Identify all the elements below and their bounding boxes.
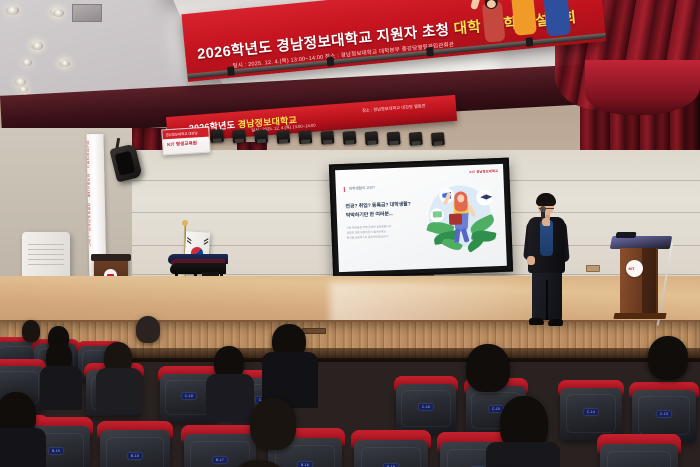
banner-clip bbox=[426, 47, 434, 57]
podium-tray bbox=[615, 232, 636, 238]
seat-label: B-17 bbox=[213, 457, 227, 463]
seat-label: B-16 bbox=[298, 462, 312, 467]
ac-grill-line bbox=[28, 254, 64, 255]
audience-torso bbox=[96, 368, 142, 414]
audience-torso bbox=[0, 428, 46, 467]
stage-light-icon bbox=[298, 130, 312, 144]
ac-grill-line bbox=[28, 249, 64, 250]
audience-torso bbox=[206, 374, 254, 422]
ceiling-vent bbox=[72, 4, 102, 22]
audience-head bbox=[466, 344, 510, 392]
audience-head bbox=[648, 336, 688, 380]
slide-logo: KIT 경남정보대학교 bbox=[469, 168, 498, 174]
downlight-icon bbox=[6, 6, 19, 15]
banner-student-figure bbox=[511, 0, 537, 36]
slide-eyebrow: 대학생활이 고민? bbox=[344, 186, 375, 192]
banner-clip bbox=[327, 57, 335, 67]
stage-light-icon bbox=[232, 129, 246, 143]
banner-clip bbox=[227, 66, 235, 76]
podium-logo-text: KIT bbox=[629, 266, 635, 271]
stage-light-icon bbox=[365, 131, 379, 145]
audience-torso bbox=[486, 442, 560, 467]
audience-head bbox=[136, 316, 160, 343]
stage-light-icon bbox=[276, 130, 290, 144]
stage-light-icon bbox=[387, 131, 401, 145]
banner-student-figure bbox=[543, 0, 571, 37]
downlight-icon bbox=[19, 86, 28, 93]
seat-label: C-18 bbox=[182, 393, 196, 399]
slide-headline-line2: 막막하기만 한 여러분... bbox=[346, 209, 411, 220]
slide-surface: KIT 경남정보대학교 대학생활이 고민? 전공? 취업? 등록금? 대학생활?… bbox=[335, 164, 507, 272]
downlight-icon bbox=[32, 42, 43, 50]
slide-body-line3: 학과별 상담부스도 준비되어있습니다 bbox=[347, 234, 392, 241]
stage-light-icon bbox=[409, 132, 423, 146]
ac-grill-line bbox=[28, 244, 64, 245]
downlight-icon bbox=[15, 78, 26, 86]
projection-screen[interactable]: KIT 경남정보대학교 대학생활이 고민? 전공? 취업? 등록금? 대학생활?… bbox=[329, 158, 513, 279]
sign-top-text: 경남정보대학교 대강당 bbox=[165, 130, 197, 137]
ac-grill-line bbox=[28, 264, 64, 265]
stage-light-icon bbox=[254, 130, 268, 144]
stage-light-icon bbox=[210, 129, 224, 143]
presenter-hand-right bbox=[542, 218, 550, 226]
audience-torso bbox=[40, 366, 82, 410]
auditorium-seating: C-19 C-18 C-17 C-16 C-15 bbox=[0, 300, 700, 467]
downlight-icon bbox=[53, 9, 64, 17]
seat-label: B-18 bbox=[128, 453, 142, 459]
presenter-hand-left bbox=[527, 256, 535, 265]
downlight-icon bbox=[60, 60, 70, 67]
ac-grill-line bbox=[28, 259, 64, 260]
audience-head bbox=[22, 320, 40, 342]
stage-curtain-swag-lower bbox=[585, 60, 700, 115]
flag-finial bbox=[182, 220, 188, 226]
slide-headline: 전공? 취업? 등록금? 대학생활? 막막하기만 한 여러분... bbox=[345, 200, 411, 219]
red-wall-sign: 경남정보대학교 대강당 KIT 평생교육원 bbox=[161, 127, 210, 156]
seat[interactable]: C-14 bbox=[560, 388, 622, 440]
seat-label: C-14 bbox=[584, 409, 598, 415]
seat[interactable]: B-18 bbox=[100, 430, 170, 467]
seat[interactable]: B-15 bbox=[354, 440, 428, 467]
stage-light-icon bbox=[320, 131, 334, 145]
wall-outlet bbox=[586, 265, 600, 272]
downlight-icon bbox=[22, 59, 32, 66]
seat-back-inner bbox=[607, 451, 671, 467]
stage-light-icon bbox=[431, 132, 445, 146]
money-icon bbox=[433, 211, 442, 217]
figure-bag bbox=[449, 213, 462, 224]
seat-back-inner bbox=[106, 437, 163, 467]
sign-header-bar: 경남정보대학교 대강당 bbox=[162, 128, 208, 140]
seat-label: C-16 bbox=[419, 404, 433, 410]
auditorium-photo: 2026학년도 경남정보대학교 지원자 초청 대학 및 학과 설명회 일시 : … bbox=[0, 0, 700, 467]
stage-light-icon bbox=[343, 131, 357, 145]
podium-logo: KIT bbox=[626, 260, 643, 277]
led-banner-venue: 장소 : 경남정보대학교 대강당 열림관 bbox=[362, 103, 426, 114]
audience-head bbox=[250, 398, 296, 450]
seat-label: B-19 bbox=[49, 448, 63, 454]
seat[interactable]: C-16 bbox=[396, 384, 456, 434]
sign-main-text: KIT 평생교육원 bbox=[167, 140, 197, 148]
banner-student-arm bbox=[470, 0, 482, 10]
slide-body: 그런 여러분을 위해 준비한 설명회입니다 궁금한 것은 무엇이든지 물어보세요… bbox=[346, 224, 392, 241]
seat[interactable]: B-13 bbox=[600, 444, 678, 467]
seat-label: C-13 bbox=[657, 411, 671, 417]
banner-clip bbox=[526, 37, 534, 47]
